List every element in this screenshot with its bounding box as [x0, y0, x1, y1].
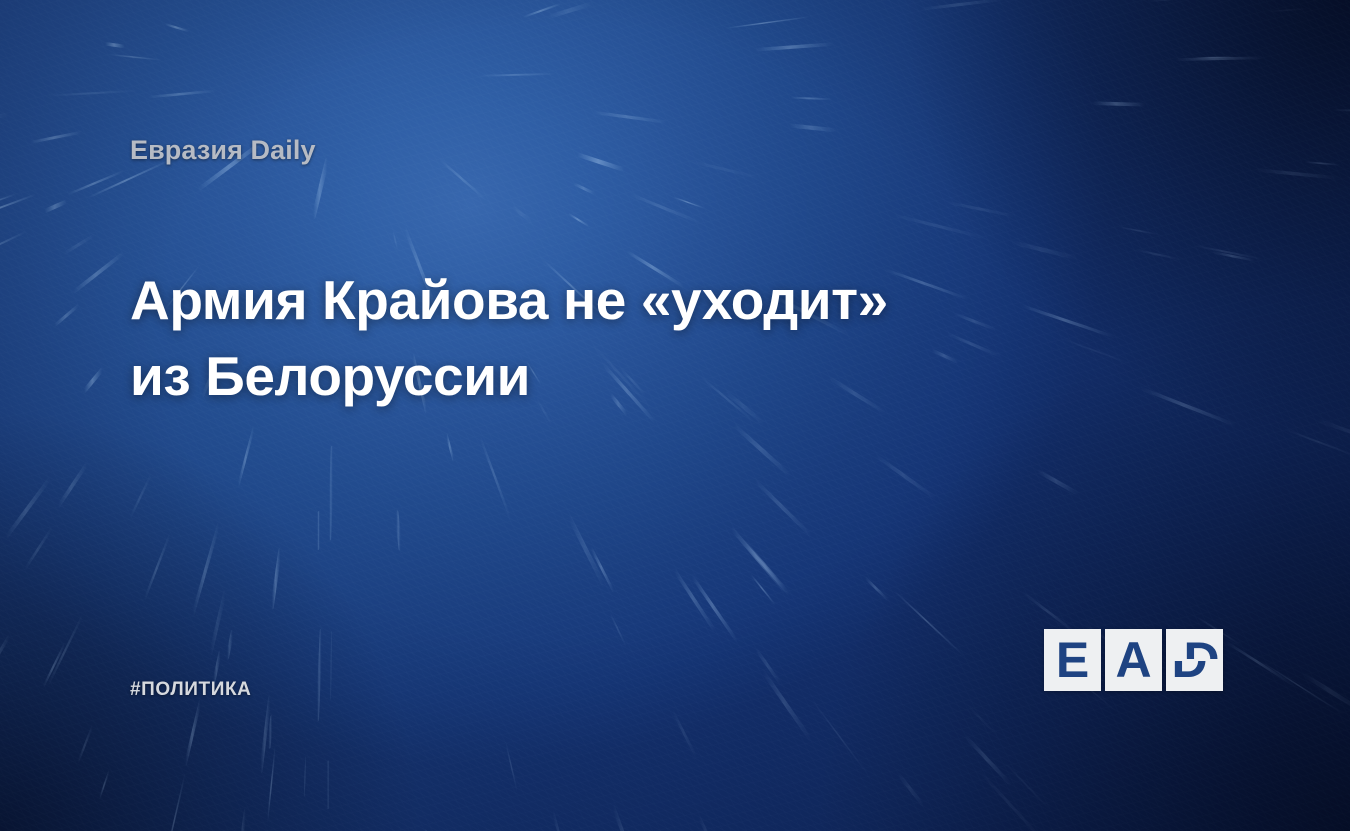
logo-tile-a: A [1105, 629, 1162, 691]
category-hashtag: #ПОЛИТИКА [130, 679, 252, 701]
logo-tile-d-seam [1166, 659, 1223, 661]
logo-letter-d-glyph-top: D [1173, 629, 1223, 660]
logo-tile-e: E [1044, 629, 1101, 691]
headline: Армия Крайова не «уходит» из Белоруссии [130, 262, 970, 414]
logo-letter-d-bottom-half: D [1166, 660, 1223, 691]
site-brand-name: Евразия Daily [130, 135, 316, 166]
logo-tile-d: D D [1166, 629, 1223, 691]
article-cover-card: Евразия Daily Армия Крайова не «уходит» … [0, 0, 1350, 831]
logo-letter-e: E [1044, 629, 1101, 691]
logo-letter-d-top-half: D [1166, 629, 1223, 660]
ead-logo: E A D D [1044, 629, 1223, 691]
logo-letter-a: A [1105, 629, 1162, 691]
logo-letter-d-glyph-bottom: D [1166, 660, 1218, 691]
headline-line-1: Армия Крайова не «уходит» [130, 269, 888, 331]
headline-line-2: из Белоруссии [130, 338, 970, 414]
